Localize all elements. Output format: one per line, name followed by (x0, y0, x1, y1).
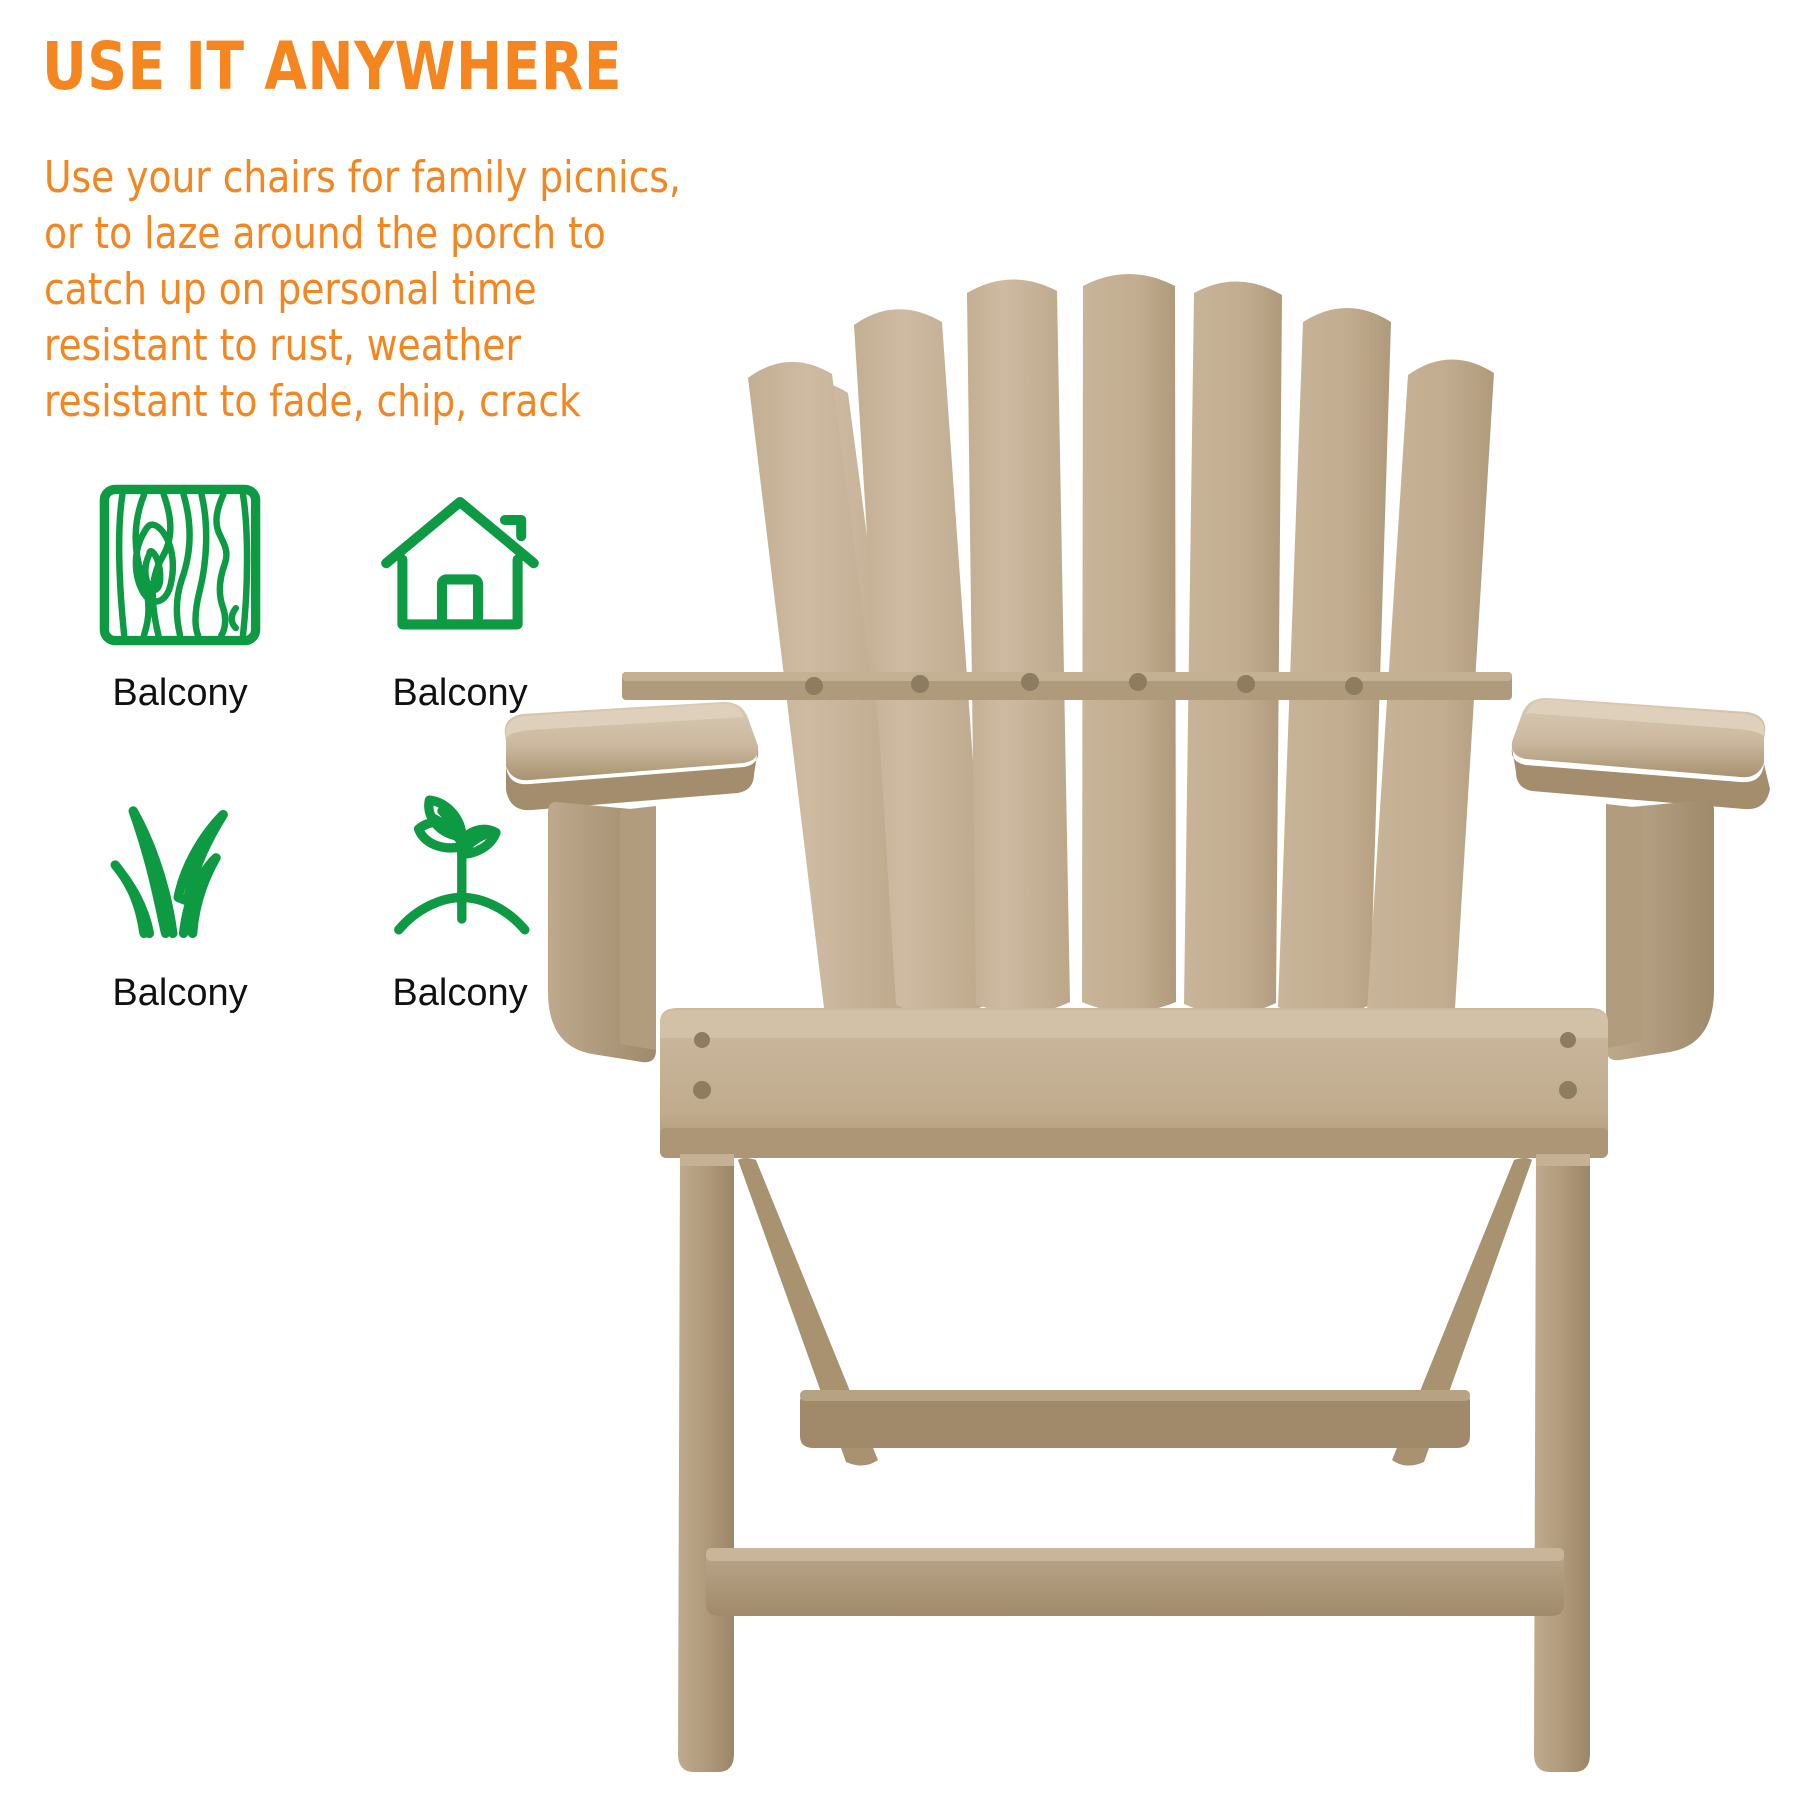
feature-label: Balcony (112, 674, 247, 712)
chair-right-arm (1512, 698, 1770, 1060)
product-image (470, 210, 1800, 1800)
chair-back-rail (622, 672, 1512, 700)
chair-mid-stretcher (800, 1390, 1470, 1448)
wood-grain-icon (85, 470, 275, 660)
chair-front-legs (678, 1154, 1590, 1772)
chair-lower-stretcher (706, 1548, 1564, 1616)
chair-seat (660, 1008, 1608, 1158)
feature-label: Balcony (112, 974, 247, 1012)
chair-back-slats (748, 274, 1494, 1022)
page-title: USE IT ANYWHERE (42, 28, 622, 105)
feature-item-grass: Balcony (40, 770, 320, 1070)
feature-item-wood-grain: Balcony (40, 470, 320, 770)
grass-icon (85, 770, 275, 960)
description-line: Use your chairs for family picnics, (44, 150, 700, 206)
